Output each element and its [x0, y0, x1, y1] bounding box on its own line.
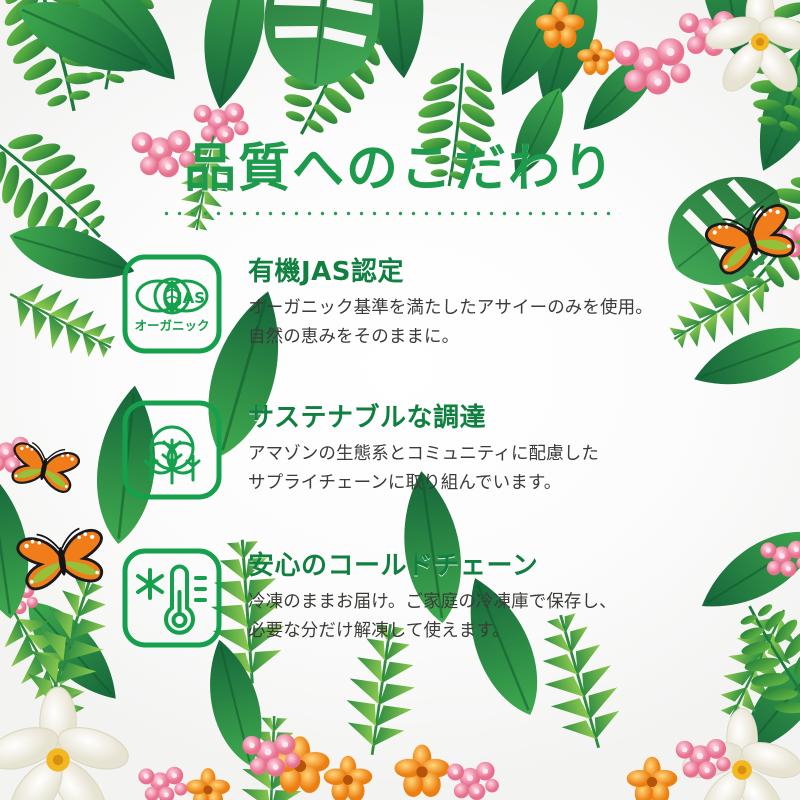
jas-mark-text: JAS	[176, 289, 205, 307]
feature-description: 冷凍のままお届け。ご家庭の冷凍庫で保存し、 必要な分だけ解凍して使えます。	[248, 588, 728, 646]
feature-description-line: サプライチェーンに取り組んでいます。	[248, 469, 728, 498]
feature-title: サステナブルな調達	[248, 402, 728, 434]
promo-graphic: 品質へのこだわり	[0, 0, 800, 800]
feature-description-line: アマゾンの生態系とコミュニティに配慮した	[248, 440, 728, 469]
feature-body: 安心のコールドチェーン 冷凍のままお届け。ご家庭の冷凍庫で保存し、 必要な分だけ…	[248, 550, 728, 646]
feature-description-line: オーガニック基準を満たしたアサイーのみを使用。	[248, 294, 728, 323]
feature-description-line: 冷凍のままお届け。ご家庭の冷凍庫で保存し、	[248, 588, 728, 617]
feature-description-line: 必要な分だけ解凍して使えます。	[248, 617, 728, 646]
three-trees-icon	[122, 400, 222, 500]
feature-title: 安心のコールドチェーン	[248, 550, 728, 582]
jas-caption-text: オーガニック	[134, 318, 209, 333]
feature-description-line: 自然の恵みをそのままに。	[248, 323, 728, 352]
jas-organic-mark-icon: JAS オーガニック	[122, 254, 222, 354]
page-title: 品質へのこだわり	[0, 139, 800, 199]
feature-body: 有機JAS認定 オーガニック基準を満たしたアサイーのみを使用。 自然の恵みをその…	[248, 256, 728, 352]
feature-description: オーガニック基準を満たしたアサイーのみを使用。 自然の恵みをそのままに。	[248, 294, 728, 352]
thermometer-snowflake-icon	[122, 548, 222, 648]
feature-body: サステナブルな調達 アマゾンの生態系とコミュニティに配慮した サプライチェーンに…	[248, 402, 728, 498]
feature-description: アマゾンの生態系とコミュニティに配慮した サプライチェーンに取り組んでいます。	[248, 440, 728, 498]
feature-title: 有機JAS認定	[248, 256, 728, 288]
title-divider	[160, 211, 620, 216]
